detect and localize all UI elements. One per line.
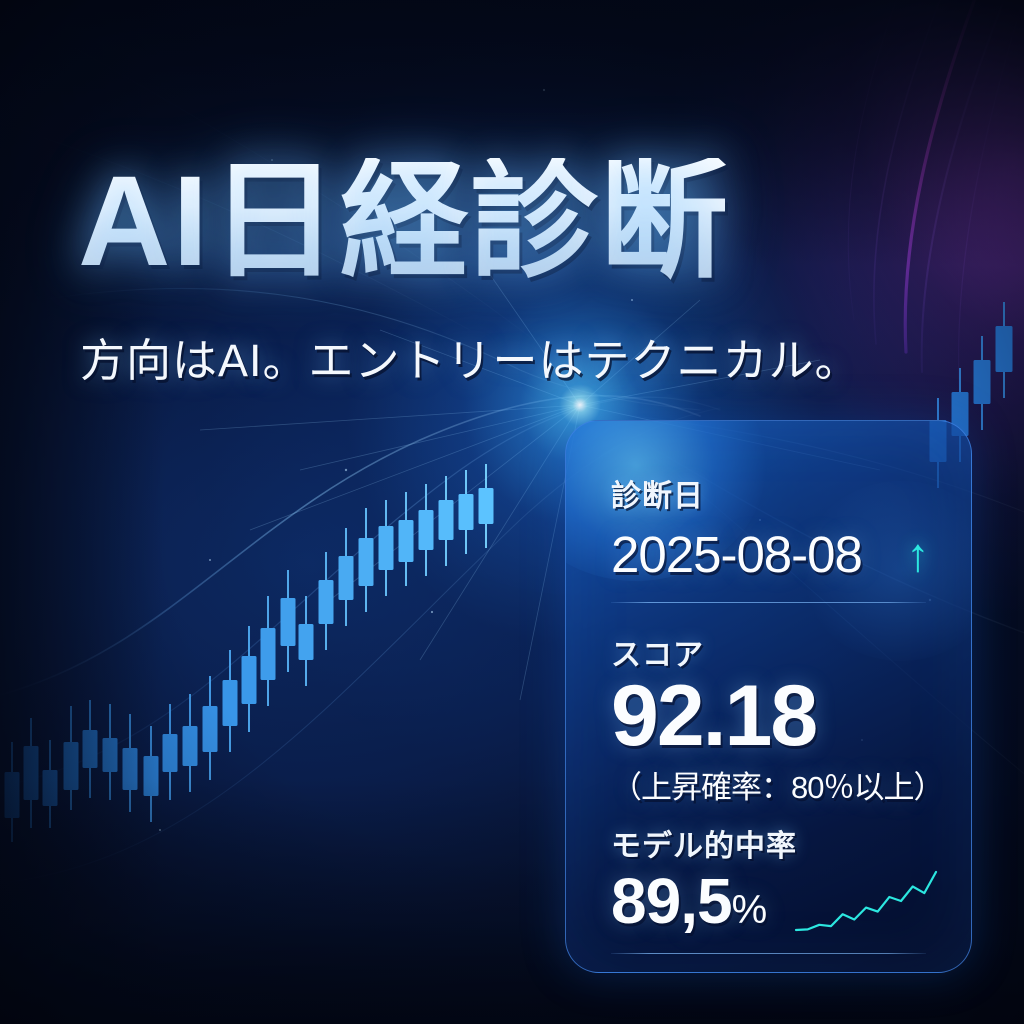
accuracy-label: モデル的中率 [611, 821, 797, 865]
page-title: AI日経診断 [78, 158, 730, 286]
card-divider-2 [611, 953, 926, 954]
accuracy-sparkline [792, 864, 940, 938]
score-note: （上昇確率：80％以上） [611, 762, 943, 807]
accuracy-value: 89,5% [611, 864, 767, 938]
diagnosis-date-value: 2025-08-08 [611, 525, 862, 584]
diagnosis-date-label: 診断日 [611, 471, 704, 515]
score-value: 92.18 [611, 667, 816, 766]
trend-up-arrow-icon: ↑ [906, 527, 930, 582]
card-divider-1 [611, 602, 926, 603]
poster-canvas: AI日経診断 方向はAI。エントリーはテクニカル。 診断日 2025-08-08… [0, 0, 1024, 1024]
diagnosis-card: 診断日 2025-08-08 ↑ スコア 92.18 （上昇確率：80％以上） … [565, 420, 972, 973]
accuracy-number: 89,5 [611, 865, 732, 937]
accuracy-unit: % [732, 888, 768, 932]
page-subtitle: 方向はAI。エントリーはテクニカル。 [80, 338, 861, 383]
